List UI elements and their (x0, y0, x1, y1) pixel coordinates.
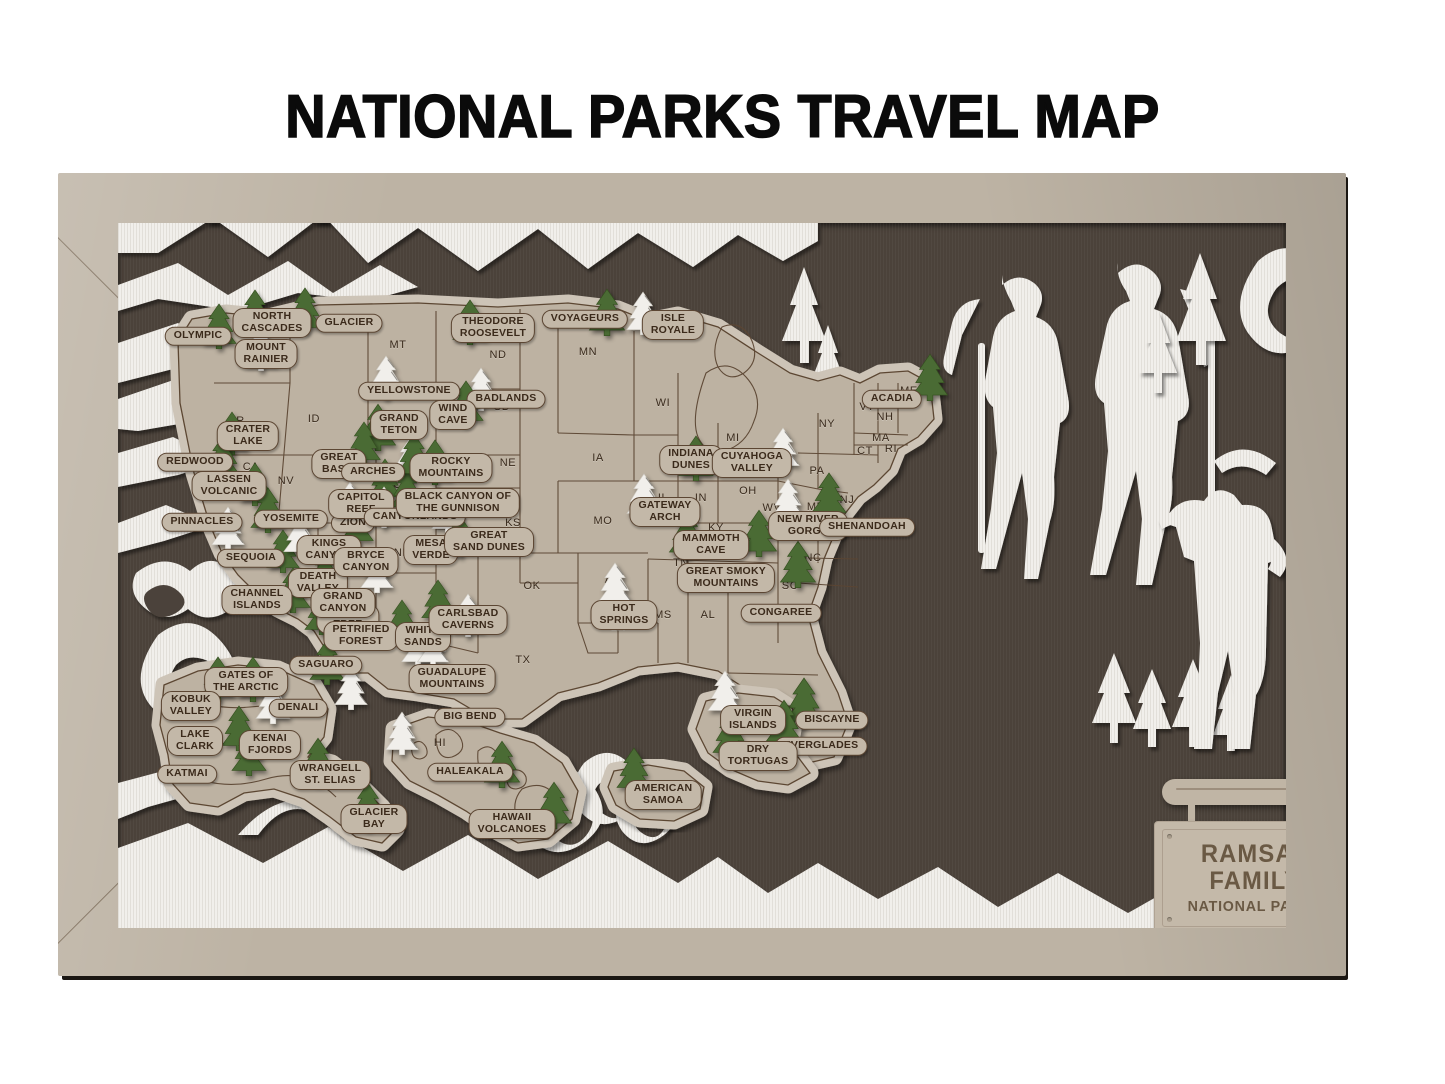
park-label-line: CAVE (438, 415, 467, 427)
park-label-line: ROOSEVELT (460, 328, 526, 340)
sign-screw-top-left (1167, 834, 1172, 839)
sign-line-3: NATIONAL PARKS (1187, 898, 1286, 915)
park-label-line: SAGUARO (298, 659, 353, 671)
park-label-line: VOLCANOES (478, 824, 547, 836)
park-label-bryce-canyon[interactable]: BRYCECANYON (333, 547, 398, 577)
park-label-line: DUNES (668, 460, 714, 472)
park-label-line: CANYON (319, 603, 366, 615)
park-label-line: ARCH (638, 512, 691, 524)
park-label-black-canyon-of-the-gunnison[interactable]: BLACK CANYON OFTHE GUNNISON (396, 488, 520, 518)
park-label-yellowstone[interactable]: YELLOWSTONE (358, 382, 460, 401)
state-label-ny: NY (819, 418, 835, 430)
park-label-glacier-bay[interactable]: GLACIERBAY (341, 804, 408, 834)
sign-screw-bottom-left (1167, 917, 1172, 922)
park-label-line: GATEWAY (638, 500, 691, 512)
sign-line-1: RAMSAY (1201, 841, 1286, 868)
park-label-line: PINNACLES (171, 516, 234, 528)
park-label-line: LASSEN (201, 474, 258, 486)
park-label-line: SEQUOIA (226, 552, 276, 564)
park-label-badlands[interactable]: BADLANDS (467, 390, 546, 409)
park-label-line: GRAND (319, 591, 366, 603)
park-label-line: HAWAII (478, 812, 547, 824)
park-label-guadalupe-mountains[interactable]: GUADALUPEMOUNTAINS (409, 664, 496, 694)
pine-tree-marker[interactable] (779, 540, 817, 588)
frame-miter-top-left (58, 207, 120, 300)
park-label-wind-cave[interactable]: WINDCAVE (429, 400, 476, 430)
park-label-line: YELLOWSTONE (367, 385, 451, 397)
park-label-line: PETRIFIED (332, 624, 389, 636)
usa-map-layer: WAORIDMTWYNDSDNEMNIAWIMIILINOHMOKSCANVUT… (118, 223, 1286, 928)
state-label-mo: MO (594, 515, 613, 527)
state-label-ia: IA (592, 452, 604, 464)
park-label-glacier[interactable]: GLACIER (316, 314, 383, 333)
state-label-nh: NH (876, 411, 893, 423)
park-label-gateway-arch[interactable]: GATEWAYARCH (629, 497, 700, 527)
park-label-line: GREAT SMOKY (686, 566, 766, 578)
park-label-pinnacles[interactable]: PINNACLES (162, 513, 243, 532)
park-label-line: REDWOOD (166, 456, 224, 468)
park-label-line: WRANGELL (299, 763, 362, 775)
park-label-line: KOBUK (170, 694, 212, 706)
park-label-carlsbad-caverns[interactable]: CARLSBADCAVERNS (429, 605, 508, 635)
park-label-line: DRY (728, 744, 789, 756)
park-label-line: OLYMPIC (174, 330, 223, 342)
park-label-mount-rainier[interactable]: MOUNTRAINIER (235, 339, 298, 369)
poster-canvas: NATIONAL PARKS TRAVEL MAP (0, 0, 1445, 1084)
park-label-line: BADLANDS (476, 393, 537, 405)
park-label-shenandoah[interactable]: SHENANDOAH (819, 518, 915, 537)
park-label-line: LAKE (176, 729, 214, 741)
park-label-arches[interactable]: ARCHES (341, 463, 405, 482)
park-label-line: CARLSBAD (438, 608, 499, 620)
state-label-wi: WI (656, 397, 671, 409)
park-label-line: CANYON (342, 562, 389, 574)
park-label-line: CAPITOL (337, 492, 385, 504)
park-label-line: DEATH (297, 571, 339, 583)
state-label-tx: TX (515, 654, 530, 666)
state-label-mi: MI (726, 432, 739, 444)
park-label-line: THEODORE (460, 316, 526, 328)
park-label-grand-canyon[interactable]: GRANDCANYON (310, 588, 375, 618)
park-label-line: CONGAREE (750, 607, 813, 619)
park-label-hot-springs[interactable]: HOTSPRINGS (590, 600, 657, 630)
park-label-congaree[interactable]: CONGAREE (741, 604, 822, 623)
park-label-line: GLACIER (350, 807, 399, 819)
park-label-line: THE GUNNISON (405, 503, 511, 515)
sign-beam (1162, 779, 1286, 805)
park-label-line: VOLCANIC (201, 486, 258, 498)
park-label-line: VIRGIN (729, 708, 777, 720)
park-label-theodore-roosevelt[interactable]: THEODOREROOSEVELT (451, 313, 535, 343)
park-label-line: BISCAYNE (804, 714, 859, 726)
park-label-line: RAINIER (244, 354, 289, 366)
state-label-ct: CT (857, 445, 873, 457)
park-label-grand-teton[interactable]: GRANDTETON (370, 410, 428, 440)
state-label-mt: MT (389, 339, 406, 351)
park-label-american-samoa[interactable]: AMERICANSAMOA (625, 780, 702, 810)
park-label-haleakala[interactable]: HALEAKALA (427, 763, 513, 782)
park-label-biscayne[interactable]: BISCAYNE (795, 711, 868, 730)
park-label-line: MOUNTAINS (418, 468, 483, 480)
park-label-line: ARCHES (350, 466, 396, 478)
park-label-line: TORTUGAS (728, 756, 789, 768)
park-label-line: DENALI (278, 702, 319, 714)
park-label-line: CHANNEL (230, 588, 283, 600)
park-label-north-cascades[interactable]: NORTHCASCADES (233, 308, 312, 338)
park-label-line: GREAT (453, 530, 525, 542)
park-label-sequoia[interactable]: SEQUOIA (217, 549, 285, 568)
state-label-nv: NV (278, 475, 294, 487)
park-label-line: CRATER (226, 424, 270, 436)
park-label-channel-islands[interactable]: CHANNELISLANDS (221, 585, 292, 615)
park-label-line: MOUNTAINS (418, 679, 487, 691)
sign-board[interactable]: RAMSAY FAMILY NATIONAL PARKS (1154, 821, 1286, 928)
state-label-id: ID (308, 413, 320, 425)
page-title: NATIONAL PARKS TRAVEL MAP (51, 82, 1395, 151)
park-label-line: SAMOA (634, 795, 693, 807)
park-label-katmai[interactable]: KATMAI (157, 765, 217, 784)
park-label-line: SHENANDOAH (828, 521, 906, 533)
park-label-denali[interactable]: DENALI (269, 699, 328, 718)
park-label-line: ACADIA (871, 393, 913, 405)
park-label-acadia[interactable]: ACADIA (862, 390, 922, 409)
park-label-line: INDIANA (668, 448, 714, 460)
park-label-line: BLACK CANYON OF (405, 491, 511, 503)
park-label-dry-tortugas[interactable]: DRYTORTUGAS (719, 741, 798, 771)
park-label-line: KENAI (248, 733, 292, 745)
park-label-line: ISLANDS (230, 600, 283, 612)
state-label-al: AL (701, 609, 716, 621)
park-label-lake-clark[interactable]: LAKECLARK (167, 726, 223, 756)
park-label-line: SANDS (404, 637, 442, 649)
sign-line-2: FAMILY (1209, 868, 1286, 895)
state-label-nd: ND (489, 349, 506, 361)
park-label-line: ISLANDS (729, 720, 777, 732)
park-label-big-bend[interactable]: BIG BEND (434, 708, 505, 727)
park-label-line: MAMMOTH (682, 533, 740, 545)
park-label-line: ST. ELIAS (299, 775, 362, 787)
park-label-line: CLARK (176, 741, 214, 753)
park-label-line: HALEAKALA (436, 766, 504, 778)
park-label-mammoth-cave[interactable]: MAMMOTHCAVE (673, 530, 749, 560)
park-label-line: SPRINGS (599, 615, 648, 627)
park-label-line: KATMAI (166, 768, 208, 780)
park-label-cuyahoga-valley[interactable]: CUYAHOGAVALLEY (712, 448, 792, 478)
park-label-line: VOYAGEURS (551, 313, 619, 325)
park-label-line: FJORDS (248, 745, 292, 757)
park-label-petrified-forest[interactable]: PETRIFIEDFOREST (323, 621, 398, 651)
park-label-line: VALLEY (721, 463, 783, 475)
state-label-hi: HI (434, 737, 446, 749)
family-sign[interactable]: RAMSAY FAMILY NATIONAL PARKS (1154, 779, 1286, 928)
park-label-line: FOREST (332, 636, 389, 648)
park-label-yosemite[interactable]: YOSEMITE (254, 510, 328, 529)
park-label-voyageurs[interactable]: VOYAGEURS (542, 310, 628, 329)
park-label-line: WIND (438, 403, 467, 415)
park-label-line: VALLEY (170, 706, 212, 718)
park-label-line: LAKE (226, 436, 270, 448)
park-label-line: TETON (379, 425, 419, 437)
park-label-kobuk-valley[interactable]: KOBUKVALLEY (161, 691, 221, 721)
park-label-kenai-fjords[interactable]: KENAIFJORDS (239, 730, 301, 760)
park-label-line: GATES OF (213, 670, 279, 682)
wood-frame: WAORIDMTWYNDSDNEMNIAWIMIILINOHMOKSCANVUT… (58, 173, 1346, 976)
park-label-saguaro[interactable]: SAGUARO (289, 656, 362, 675)
park-label-crater-lake[interactable]: CRATERLAKE (217, 421, 279, 451)
park-label-line: BAY (350, 819, 399, 831)
park-label-wrangell-st-elias[interactable]: WRANGELLST. ELIAS (290, 760, 371, 790)
park-label-line: ISLE (651, 313, 695, 325)
park-label-line: VERDE (412, 550, 449, 562)
park-label-great-smoky-mountains[interactable]: GREAT SMOKYMOUNTAINS (677, 563, 775, 593)
park-label-line: THE ARCTIC (213, 682, 279, 694)
state-label-ok: OK (523, 580, 540, 592)
park-label-line: MOUNTAINS (686, 578, 766, 590)
park-label-line: GUADALUPE (418, 667, 487, 679)
park-label-line: CAVERNS (438, 620, 499, 632)
park-label-line: ROCKY (418, 456, 483, 468)
park-label-great-sand-dunes[interactable]: GREATSAND DUNES (444, 527, 534, 557)
park-label-line: NORTH (242, 311, 303, 323)
park-label-line: CASCADES (242, 323, 303, 335)
frame-miter-bottom-left (58, 881, 120, 974)
pine-tree-marker[interactable] (385, 711, 420, 755)
park-label-virgin-islands[interactable]: VIRGINISLANDS (720, 705, 786, 735)
park-label-line: HOT (599, 603, 648, 615)
state-label-oh: OH (739, 485, 757, 497)
state-label-mn: MN (579, 346, 597, 358)
park-label-line: BRYCE (342, 550, 389, 562)
park-label-isle-royale[interactable]: ISLEROYALE (642, 310, 704, 340)
park-label-line: YOSEMITE (263, 513, 319, 525)
state-label-ri: RI (885, 443, 897, 455)
park-label-line: AMERICAN (634, 783, 693, 795)
park-label-lassen-volcanic[interactable]: LASSENVOLCANIC (192, 471, 267, 501)
state-label-ne: NE (500, 457, 516, 469)
park-label-olympic[interactable]: OLYMPIC (165, 327, 232, 346)
layered-artwork: WAORIDMTWYNDSDNEMNIAWIMIILINOHMOKSCANVUT… (118, 223, 1286, 928)
park-label-rocky-mountains[interactable]: ROCKYMOUNTAINS (409, 453, 492, 483)
park-label-line: ROYALE (651, 325, 695, 337)
park-label-line: SAND DUNES (453, 542, 525, 554)
park-label-line: CAVE (682, 545, 740, 557)
park-label-line: BIG BEND (443, 711, 496, 723)
park-label-line: MOUNT (244, 342, 289, 354)
park-label-redwood[interactable]: REDWOOD (157, 453, 233, 472)
park-label-hawaii-volcanoes[interactable]: HAWAIIVOLCANOES (469, 809, 556, 839)
park-label-line: CUYAHOGA (721, 451, 783, 463)
park-label-line: GLACIER (325, 317, 374, 329)
park-label-line: GRAND (379, 413, 419, 425)
